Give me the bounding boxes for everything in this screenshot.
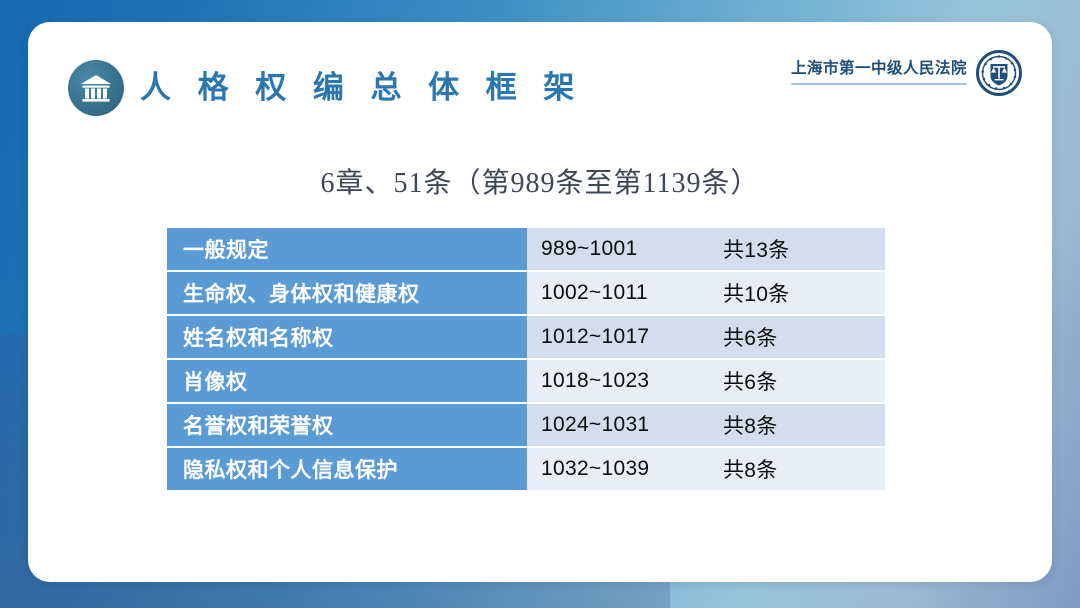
chapter-name-cell: 生命权、身体权和健康权 bbox=[167, 272, 527, 314]
article-count: 共8条 bbox=[723, 454, 885, 484]
chapter-detail-cell: 1002~1011 共10条 bbox=[527, 272, 885, 314]
chapter-name-cell: 一般规定 bbox=[167, 228, 527, 270]
slide-header: 人 格 权 编 总 体 框 架 上海市第一中级人民法院 bbox=[28, 22, 1052, 132]
table-row: 一般规定 989~1001 共13条 bbox=[167, 228, 885, 270]
article-range: 1012~1017 bbox=[541, 325, 723, 349]
slide-subtitle: 6章、51条（第989条至第1139条） bbox=[28, 164, 1052, 204]
article-range: 1002~1011 bbox=[541, 281, 723, 305]
article-count: 共10条 bbox=[723, 278, 885, 308]
chapter-name-cell: 肖像权 bbox=[167, 360, 527, 402]
chapter-detail-cell: 989~1001 共13条 bbox=[527, 228, 885, 270]
slide-background: 人 格 权 编 总 体 框 架 上海市第一中级人民法院 bbox=[0, 0, 1080, 608]
chapter-name-cell: 姓名权和名称权 bbox=[167, 316, 527, 358]
chapter-name-cell: 隐私权和个人信息保护 bbox=[167, 448, 527, 490]
chapter-detail-cell: 1012~1017 共6条 bbox=[527, 316, 885, 358]
court-emblem-icon bbox=[976, 50, 1022, 96]
court-name-underline bbox=[791, 83, 967, 85]
page-title: 人 格 权 编 总 体 框 架 bbox=[140, 66, 583, 110]
chapter-detail-cell: 1032~1039 共8条 bbox=[527, 448, 885, 490]
chapter-detail-cell: 1024~1031 共8条 bbox=[527, 404, 885, 446]
article-count: 共6条 bbox=[723, 366, 885, 396]
court-branding: 上海市第一中级人民法院 bbox=[791, 50, 1022, 96]
table-row: 生命权、身体权和健康权 1002~1011 共10条 bbox=[167, 272, 885, 314]
courthouse-icon bbox=[68, 60, 124, 116]
article-count: 共6条 bbox=[723, 322, 885, 352]
article-count: 共13条 bbox=[723, 234, 885, 264]
table-row: 隐私权和个人信息保护 1032~1039 共8条 bbox=[167, 448, 885, 490]
article-range: 1018~1023 bbox=[541, 369, 723, 393]
table-row: 姓名权和名称权 1012~1017 共6条 bbox=[167, 316, 885, 358]
slide-card: 人 格 权 编 总 体 框 架 上海市第一中级人民法院 bbox=[28, 22, 1052, 582]
article-count: 共8条 bbox=[723, 410, 885, 440]
chapter-detail-cell: 1018~1023 共6条 bbox=[527, 360, 885, 402]
article-range: 1024~1031 bbox=[541, 413, 723, 437]
court-name-label: 上海市第一中级人民法院 bbox=[791, 59, 967, 79]
article-range: 989~1001 bbox=[541, 237, 723, 261]
framework-table: 一般规定 989~1001 共13条 生命权、身体权和健康权 1002~1011… bbox=[167, 228, 885, 492]
table-row: 名誉权和荣誉权 1024~1031 共8条 bbox=[167, 404, 885, 446]
chapter-name-cell: 名誉权和荣誉权 bbox=[167, 404, 527, 446]
article-range: 1032~1039 bbox=[541, 457, 723, 481]
table-row: 肖像权 1018~1023 共6条 bbox=[167, 360, 885, 402]
court-name-block: 上海市第一中级人民法院 bbox=[791, 59, 967, 87]
